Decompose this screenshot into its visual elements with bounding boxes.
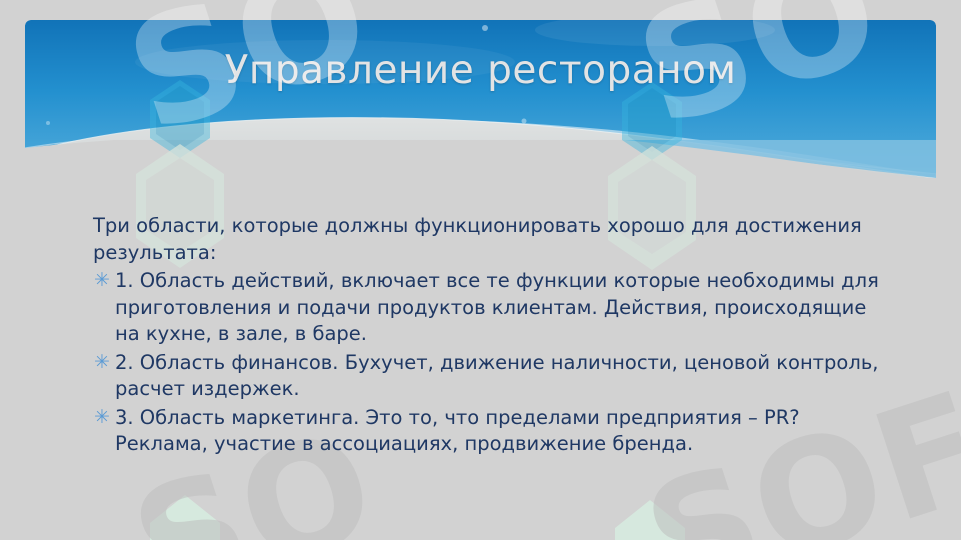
list-item: ✳ 1. Область действий, включает все те ф… — [93, 268, 893, 348]
chevron-diamond-logo-icon-bottom-right — [605, 470, 725, 540]
list-item-text: 2. Область финансов. Бухучет, движение н… — [115, 351, 879, 401]
banner-graphic — [25, 20, 936, 178]
chevron-diamond-logo-icon-bottom-left — [140, 465, 260, 540]
asterisk-bullet-icon: ✳ — [94, 404, 110, 431]
slide-body: Три области, которые должны функциониров… — [93, 213, 893, 460]
intro-paragraph: Три области, которые должны функциониров… — [93, 213, 893, 266]
list-item-text: 3. Область маркетинга. Это то, что преде… — [115, 406, 800, 456]
list-item: ✳ 2. Область финансов. Бухучет, движение… — [93, 350, 893, 403]
presentation-slide: Управление рестораном SO SO SO SOF Три о… — [0, 0, 961, 540]
list-item: ✳ 3. Область маркетинга. Это то, что пре… — [93, 405, 893, 458]
asterisk-bullet-icon: ✳ — [94, 349, 110, 376]
asterisk-bullet-icon: ✳ — [94, 267, 110, 294]
list-item-text: 1. Область действий, включает все те фун… — [115, 269, 879, 345]
slide-header-banner — [25, 20, 936, 178]
page-title: Управление рестораном — [25, 48, 936, 93]
